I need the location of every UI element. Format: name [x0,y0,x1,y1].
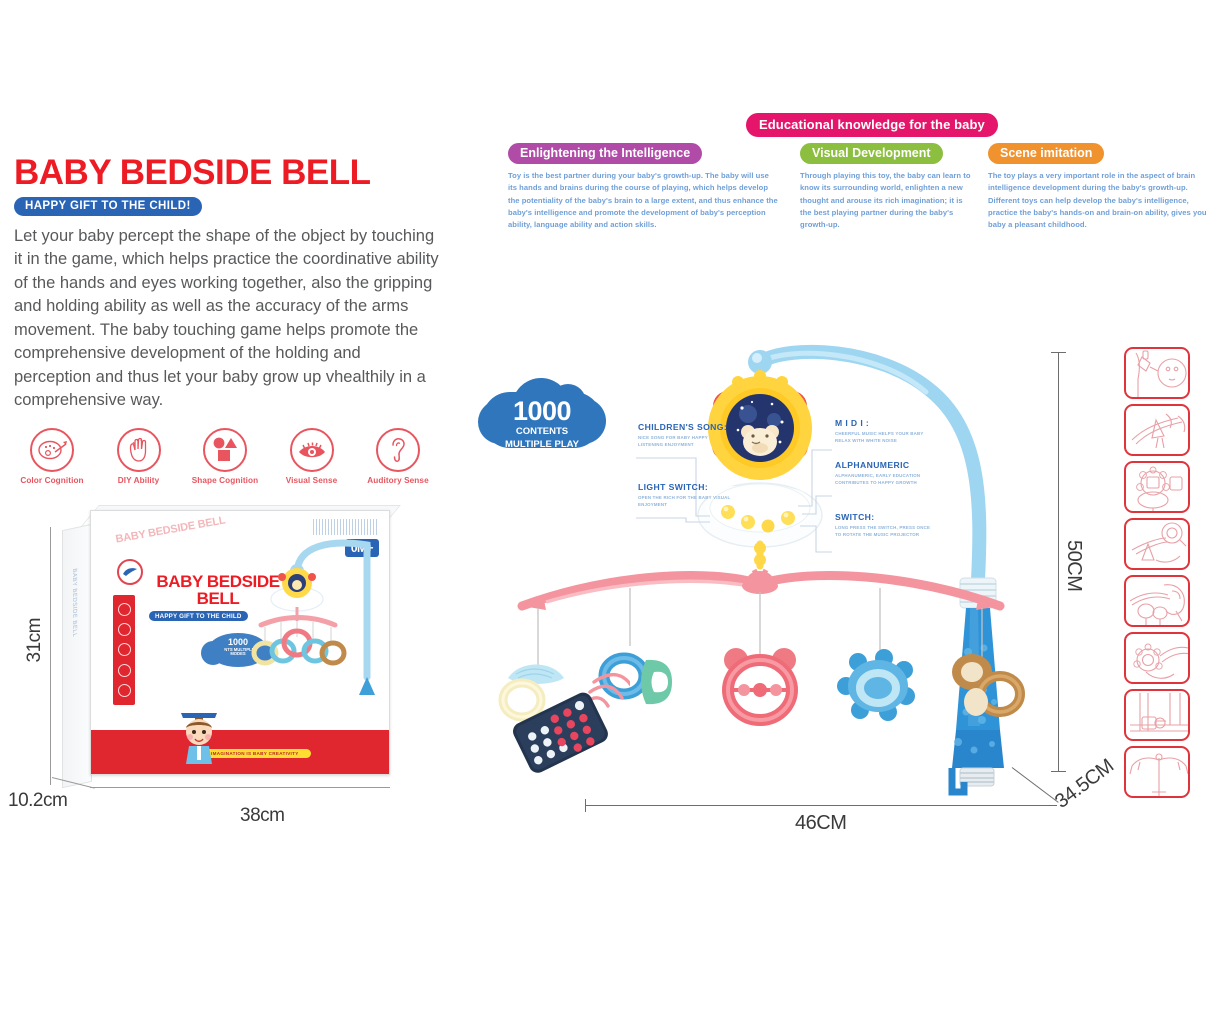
cloud-line-1: CONTENTS [482,427,602,438]
package-height-label: 31cm [24,618,46,662]
hero-width-dimension-line [585,805,1057,806]
ear-icon [376,428,420,472]
hero-height-label: 50CM [1062,540,1085,591]
step-connect-hanger [1124,518,1190,570]
column-text: Toy is the best partner during your baby… [508,170,780,231]
dimension-line-height [50,527,51,785]
description-text: Let your baby percept the shape of the o… [14,225,439,412]
cloud-line-3: MODES [482,452,602,463]
cloud-text: 1000 CONTENTS MULTIPLE PLAY MODES [482,398,602,463]
step-rotate-unit [1124,632,1190,684]
callout-desc: LONG PRESS THE SWITCH, PRESS ONCE TO ROT… [835,524,931,538]
cloud-line-2: MULTIPLE PLAY [482,440,602,451]
package-ghost-title: BABY BEDSIDE BELL [115,515,227,546]
package-width-label: 38cm [240,805,284,827]
callout-title: CHILDREN'S SONG: [638,422,734,432]
instruction-thumbnail-strip [1124,347,1196,803]
feature-auditory-sense: Auditory Sense [356,428,440,485]
hero-diagonal-label: 34.5CM [1051,755,1118,814]
package-box-photo: BABY BEDSIDE BELL BABY BEDSIDE BELL 0M+ … [28,505,448,825]
hand-icon [117,428,161,472]
palette-icon [30,428,74,472]
callout-desc: CHEERFUL MUSIC HELPS YOUR BABY RELAX WIT… [835,430,931,444]
feature-label: DIY Ability [97,476,181,485]
feature-icons-row: Color Cognition DIY Ability Shape Cognit… [10,428,440,485]
callout-title: M I D I : [835,418,931,428]
feature-label: Color Cognition [10,476,94,485]
product-info-sheet: BABY BEDSIDE BELL HAPPY GIFT TO THE CHIL… [0,0,1207,1010]
package-boy-mascot [173,704,225,766]
feature-label: Visual Sense [270,476,354,485]
callout-desc: ALPHANUMERIC, EARLY EDUCATION CONTRIBUTE… [835,472,945,486]
callout-title: SWITCH: [835,512,931,522]
callout-childrens-song: CHILDREN'S SONG: NICE SONG FOR BABY HAPP… [638,422,734,449]
eye-icon [290,428,334,472]
callout-title: LIGHT SWITCH: [638,482,734,492]
step-attach-arm [1124,404,1190,456]
step-plug-in [1124,347,1190,399]
step-install-toys [1124,575,1190,627]
callout-title: ALPHANUMERIC [835,460,945,470]
column-text: The toy plays a very important role in t… [988,170,1207,231]
shapes-icon [203,428,247,472]
package-depth-label: 10.2cm [8,790,67,812]
package-front-face: BABY BEDSIDE BELL 0M+ BABY BEDSIDE BELL … [90,510,390,775]
column-pill: Enlightening the Intelligence [508,143,702,164]
education-column-scene: Scene imitation The toy plays a very imp… [988,143,1207,231]
feature-diy-ability: DIY Ability [97,428,181,485]
subtitle-badge: HAPPY GIFT TO THE CHILD! [14,197,202,216]
remote-control [498,672,630,784]
step-final-assembly [1124,746,1190,798]
callout-desc: NICE SONG FOR BABY HAPPY LISTENING ENJOY… [638,434,734,448]
education-column-intelligence: Enlightening the Intelligence Toy is the… [508,143,780,231]
feature-label: Auditory Sense [356,476,440,485]
column-pill: Visual Development [800,143,943,164]
feature-visual-sense: Visual Sense [270,428,354,485]
package-side-text: BABY BEDSIDE BELL [71,568,77,638]
left-description-panel: BABY BEDSIDE BELL HAPPY GIFT TO THE CHIL… [14,155,454,412]
step-clamp-to-crib [1124,689,1190,741]
education-main-pill: Educational knowledge for the baby [746,113,998,137]
column-text: Through playing this toy, the baby can l… [800,170,972,231]
callout-desc: OPEN THE RICH FOR THE BABY VISUAL ENJOYM… [638,494,734,508]
package-subtitle-badge: HAPPY GIFT TO THE CHILD [149,611,248,621]
hero-width-label: 46CM [795,812,846,835]
brand-logo-icon [117,559,143,585]
feature-shape-cognition: Shape Cognition [183,428,267,485]
callout-midi: M I D I : CHEERFUL MUSIC HELPS YOUR BABY… [835,418,931,445]
callout-light-switch: LIGHT SWITCH: OPEN THE RICH FOR THE BABY… [638,482,734,509]
callout-switch: SWITCH: LONG PRESS THE SWITCH, PRESS ONC… [835,512,931,539]
package-icon-strip [113,595,135,705]
page-title: BABY BEDSIDE BELL [14,155,454,190]
step-music-box [1124,461,1190,513]
education-column-visual: Visual Development Through playing this … [800,143,972,231]
feature-label: Shape Cognition [183,476,267,485]
dimension-line-width [90,787,390,788]
package-side-face: BABY BEDSIDE BELL [62,524,92,788]
feature-color-cognition: Color Cognition [10,428,94,485]
package-mobile-illustration [241,527,389,697]
hero-height-dimension-line [1058,352,1059,772]
callout-alphanumeric: ALPHANUMERIC ALPHANUMERIC, EARLY EDUCATI… [835,460,945,487]
column-pill: Scene imitation [988,143,1104,164]
cloud-number: 1000 [482,398,602,425]
